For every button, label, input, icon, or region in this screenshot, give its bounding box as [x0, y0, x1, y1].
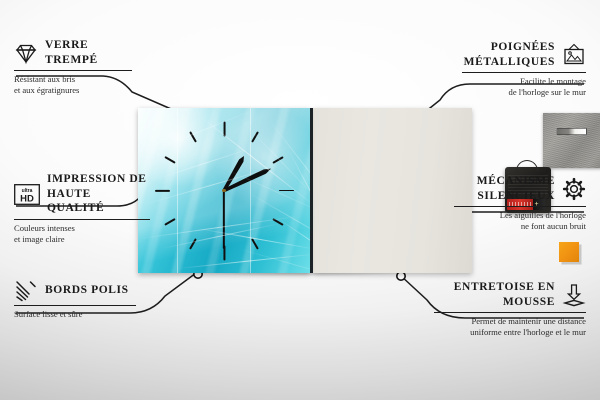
feature-rule	[462, 72, 586, 73]
diamond-icon	[14, 41, 38, 65]
feature-mecanisme-silencieux: MÉCANISME SILENCIEUX Les aiguilles de l'…	[454, 174, 586, 233]
feature-verre-trempe: VERRE TREMPÉ Résistant aux bris et aux é…	[14, 38, 132, 97]
mechanism-hanging-loop	[516, 160, 538, 171]
picture-hanger-icon	[562, 43, 586, 67]
ultra-hd-icon: ultra HD	[14, 184, 40, 205]
feature-subtitle: Résistant aux bris et aux égratignures	[14, 74, 132, 97]
infographic-stage: + VERRE TREMPÉ	[0, 0, 600, 400]
foam-spacer	[559, 242, 579, 262]
feature-rule	[14, 305, 136, 306]
feature-subtitle: Permet de maintenir une distance uniform…	[434, 316, 586, 339]
second-hand	[223, 190, 225, 248]
feature-title: BORDS POLIS	[45, 283, 129, 298]
clock-back-panel: +	[313, 108, 472, 273]
feature-title: IMPRESSION DE HAUTE QUALITÉ	[47, 172, 150, 216]
hanger-slot	[556, 128, 587, 135]
hour-mark	[279, 190, 294, 192]
hour-mark	[155, 190, 170, 192]
panel-seam-2	[250, 108, 251, 273]
feature-title: MÉCANISME SILENCIEUX	[454, 174, 555, 203]
feature-rule	[454, 206, 586, 207]
feature-subtitle: Facilite le montage de l'horloge sur le …	[462, 76, 586, 99]
product-assembly: +	[138, 108, 472, 273]
feature-title: ENTRETOISE EN MOUSSE	[434, 280, 555, 309]
feature-rule	[14, 70, 132, 71]
feature-bords-polis: BORDS POLIS Surface lisse et sûre	[14, 278, 136, 320]
feature-impression-haute-qualite: ultra HD IMPRESSION DE HAUTE QUALITÉ Cou…	[14, 172, 150, 245]
clock-face	[138, 108, 310, 273]
feature-subtitle: Couleurs intenses et image claire	[14, 223, 150, 246]
feature-poignees-metalliques: POIGNÉES MÉTALLIQUES Facilite le montage…	[462, 40, 586, 99]
svg-text:HD: HD	[20, 193, 34, 204]
feature-rule	[434, 312, 586, 313]
feature-subtitle: Surface lisse et sûre	[14, 309, 136, 320]
metal-hanger-plate	[543, 113, 600, 168]
arrow-down-onto-layer-icon	[562, 283, 586, 307]
feature-subtitle: Les aiguilles de l'horloge ne font aucun…	[454, 210, 586, 233]
polished-edge-lines-icon	[14, 278, 38, 302]
feature-entretoise-en-mousse: ENTRETOISE EN MOUSSE Permet de maintenir…	[434, 280, 586, 339]
panel-seam-1	[177, 108, 178, 273]
feature-title: POIGNÉES MÉTALLIQUES	[462, 40, 555, 69]
hands-hub	[222, 189, 225, 192]
feature-rule	[14, 219, 150, 220]
feature-title: VERRE TREMPÉ	[45, 38, 132, 67]
gear-icon	[562, 177, 586, 201]
